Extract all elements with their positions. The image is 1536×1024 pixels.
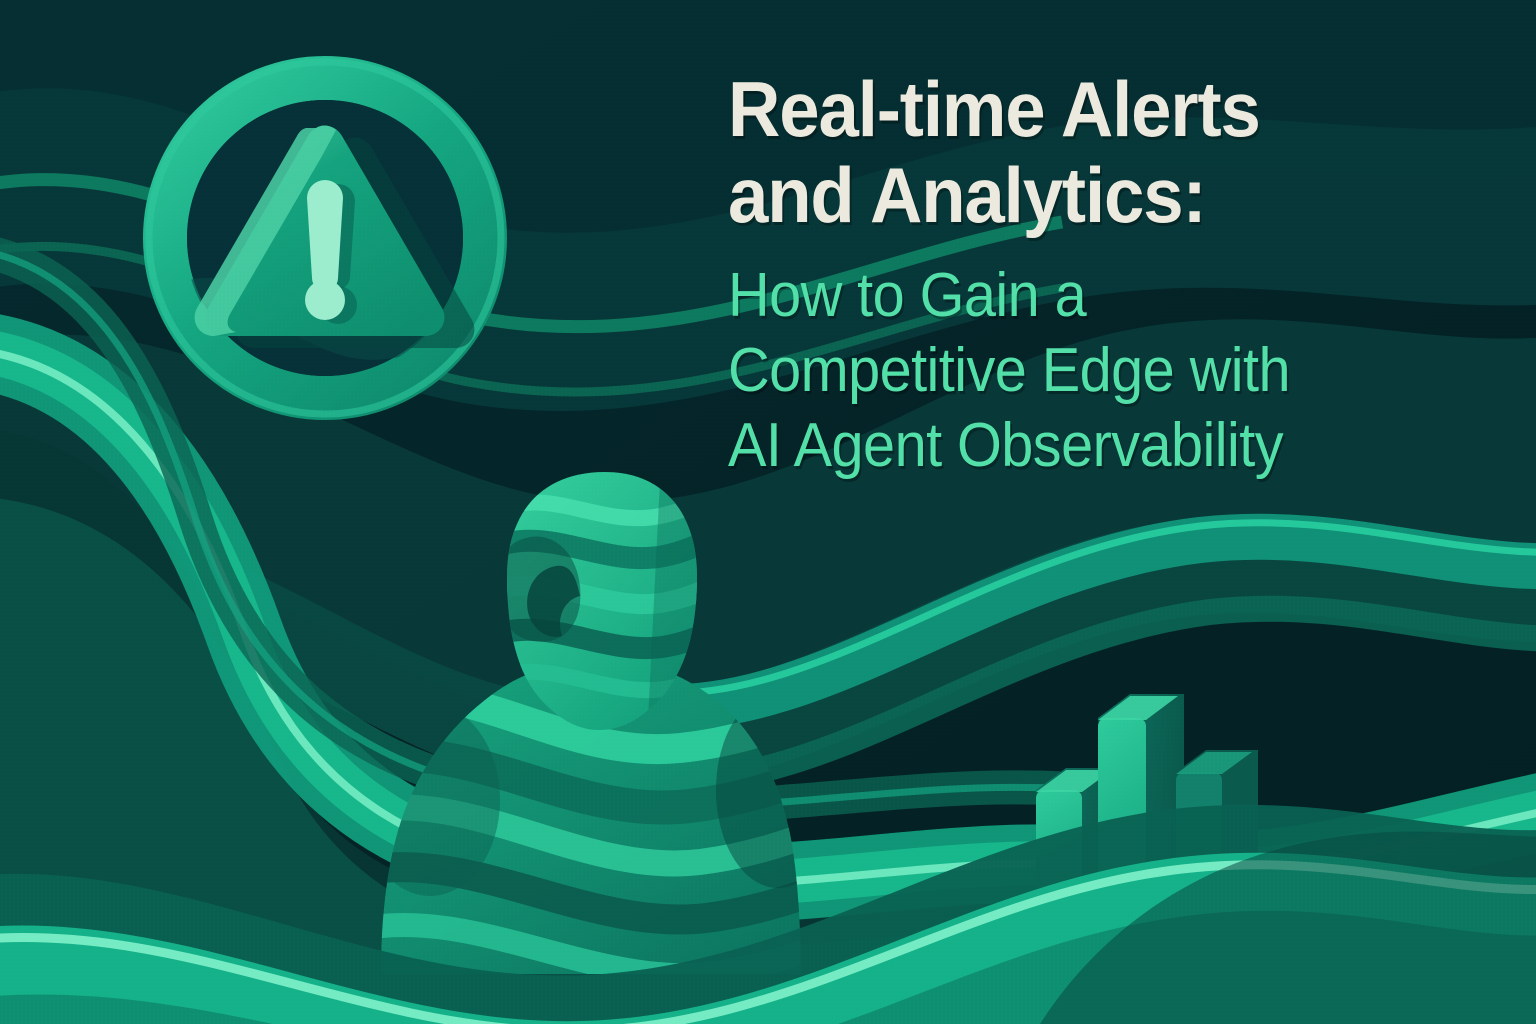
background-artwork: [0, 0, 1536, 1024]
poster-canvas: Real-time Alerts and Analytics: How to G…: [0, 0, 1536, 1024]
